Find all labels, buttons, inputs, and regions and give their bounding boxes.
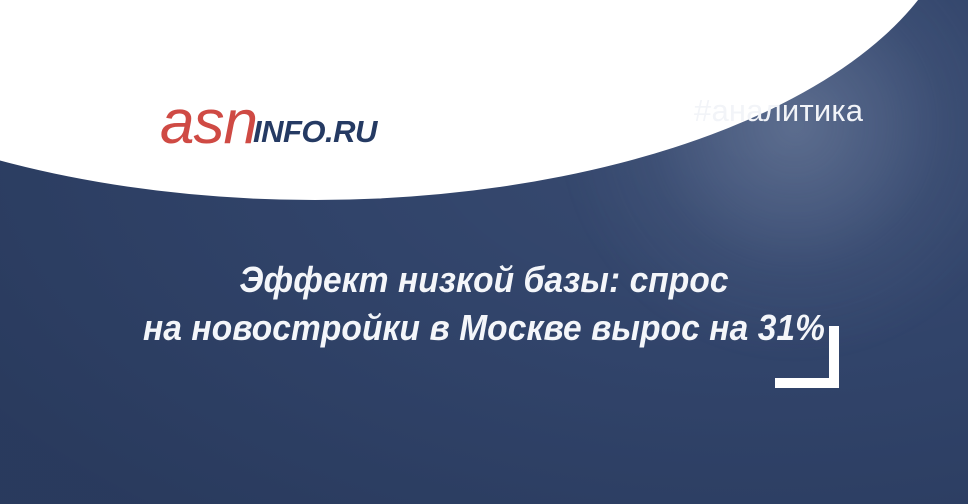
logo-text-asn: aSN [160, 92, 257, 154]
hashtag-analytics[interactable]: #аналитика [694, 92, 863, 129]
promo-banner: aSN INFO.RU #аналитика Эффект низкой баз… [0, 0, 968, 504]
logo-text-info-ru: INFO.RU [253, 116, 377, 147]
headline-line-1: Эффект низкой базы: спрос [34, 256, 934, 304]
corner-bracket-decoration [775, 326, 839, 388]
asninfo-ru-logo[interactable]: aSN INFO.RU [160, 92, 377, 154]
bracket-horizontal-bar [775, 378, 839, 388]
